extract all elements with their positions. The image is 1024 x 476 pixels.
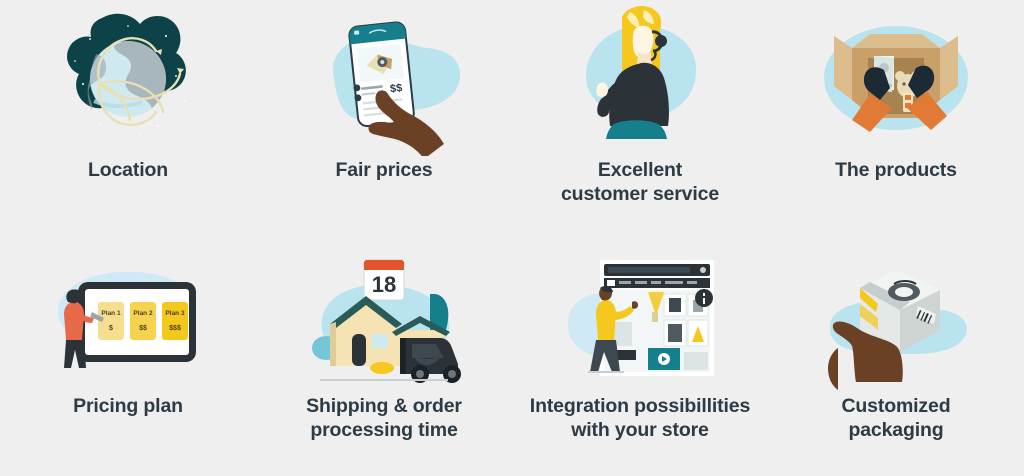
open-box-hands-icon [808, 6, 984, 156]
svg-text:$$: $$ [139, 325, 147, 332]
feature-cell-fair-prices[interactable]: $$ Fair prices [256, 0, 512, 238]
feature-highlights-board: Location [0, 0, 1024, 476]
feature-cell-integration[interactable]: Integration possibillities with your sto… [512, 238, 768, 476]
web-store-icon [552, 252, 728, 392]
feature-cell-customer-service[interactable]: Excellent customer service [512, 0, 768, 238]
phone-price-text: $$ [389, 82, 402, 95]
svg-text:Plan 3: Plan 3 [165, 310, 185, 317]
smartphone-price-icon: $$ [296, 6, 472, 156]
svg-text:$: $ [109, 325, 113, 332]
delivery-van-house-icon: 18 [296, 252, 472, 392]
feature-cell-location[interactable]: Location [0, 0, 256, 238]
feature-grid: Location [0, 0, 1024, 476]
calendar-day-text: 18 [372, 272, 396, 297]
pricing-card-3: Plan 3 $$$ [162, 302, 188, 340]
hand-parcel-icon [808, 252, 984, 392]
feature-label-customer-service: Excellent customer service [561, 158, 719, 207]
feature-cell-the-products[interactable]: The products [768, 0, 1024, 238]
headset-agent-icon [552, 6, 728, 156]
feature-label-fair-prices: Fair prices [336, 158, 433, 182]
svg-text:Plan 1: Plan 1 [101, 310, 121, 317]
svg-text:$$$: $$$ [169, 325, 181, 332]
feature-cell-pricing-plan[interactable]: Plan 1 $ Plan 2 $$ Plan 3 $$$ [0, 238, 256, 476]
feature-cell-shipping[interactable]: 18 [256, 238, 512, 476]
feature-label-location: Location [88, 158, 168, 182]
tablet-pricing-icon: Plan 1 $ Plan 2 $$ Plan 3 $$$ [40, 252, 216, 392]
svg-text:Plan 2: Plan 2 [133, 310, 153, 317]
feature-cell-packaging[interactable]: Customized packaging [768, 238, 1024, 476]
globe-orbit-icon [40, 6, 216, 156]
feature-label-the-products: The products [835, 158, 957, 182]
pricing-card-2: Plan 2 $$ [130, 302, 156, 340]
